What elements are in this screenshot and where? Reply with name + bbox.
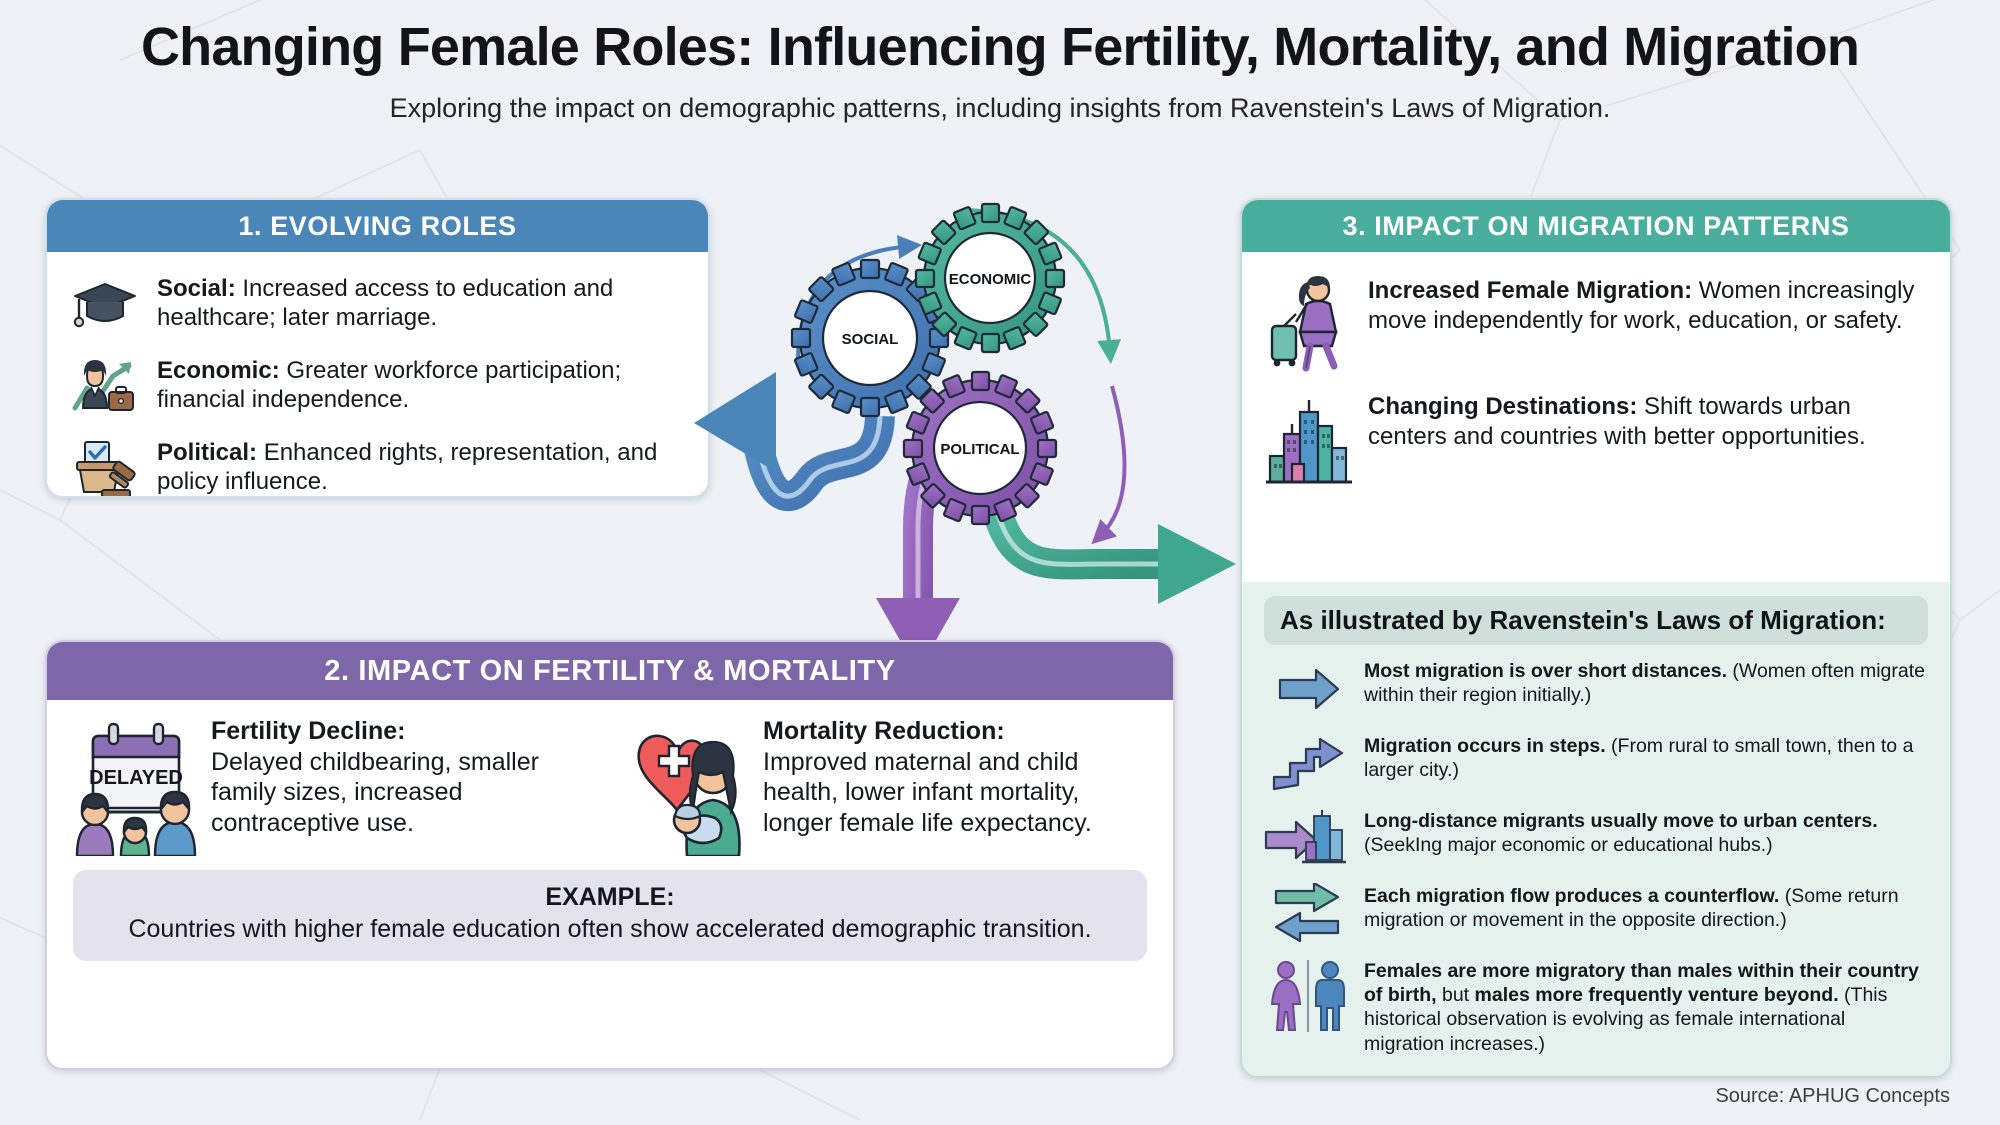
list-item: Economic: Greater workforce participatio… [69, 354, 686, 418]
list-item-text: Changing Destinations: Shift towards urb… [1368, 390, 1926, 451]
source-note: Source: APHUG Concepts [1715, 1085, 1950, 1108]
businesswoman-growth-icon [69, 354, 141, 418]
law-item: Each migration flow produces a counterfl… [1264, 883, 1928, 945]
svg-text:DELAYED: DELAYED [89, 767, 183, 789]
step-arrow-icon [1264, 733, 1352, 795]
panel-fertility-mortality-title: 2. IMPACT ON FERTILITY & MORTALITY [47, 642, 1173, 700]
header: Changing Female Roles: Influencing Ferti… [0, 18, 2000, 124]
list-item-lead: Changing Destinations: [1368, 393, 1637, 420]
graduation-cap-icon [69, 272, 141, 336]
list-item-lead: Social: [157, 275, 236, 302]
law-text: Females are more migratory than males wi… [1364, 958, 1928, 1056]
gear-economic: ECONOMIC [916, 204, 1064, 352]
column-mortality: Mortality Reduction: Improved maternal a… [625, 716, 1147, 856]
center-gear-cluster: SOCIAL [680, 180, 1260, 700]
delayed-calendar-family-icon: DELAYED [73, 716, 197, 856]
heart-mother-baby-icon [625, 716, 749, 856]
law-lead: Long-distance migrants usually move to u… [1364, 810, 1878, 832]
example-box: EXAMPLE: Countries with higher female ed… [73, 870, 1147, 961]
panel-migration-patterns: 3. IMPACT ON MIGRATION PATTERNS [1240, 198, 1952, 1078]
list-item: Changing Destinations: Shift towards urb… [1266, 390, 1926, 488]
right-arrow-icon [1264, 658, 1352, 720]
panel-evolving-roles: 1. EVOLVING ROLES Social: Increased acce… [45, 198, 710, 498]
law-text: Migration occurs in steps. (From rural t… [1364, 733, 1928, 782]
ravenstein-laws-heading: As illustrated by Ravenstein's Laws of M… [1264, 596, 1928, 645]
panel-migration-patterns-body: Increased Female Migration: Women increa… [1242, 252, 1950, 582]
list-item-text: Economic: Greater workforce participatio… [157, 354, 686, 415]
list-item-text: Social: Increased access to education an… [157, 272, 686, 333]
list-item: Political: Enhanced rights, representati… [69, 436, 686, 498]
panel-evolving-roles-title: 1. EVOLVING ROLES [47, 200, 708, 252]
list-item-lead: Economic: [157, 357, 280, 384]
list-item-text: Political: Enhanced rights, representati… [157, 436, 686, 497]
column-fertility-body: Delayed childbearing, smaller family siz… [211, 748, 539, 837]
law-text: Most migration is over short distances. … [1364, 658, 1928, 707]
list-item-lead: Political: [157, 439, 257, 466]
column-mortality-title: Mortality Reduction: [763, 716, 1147, 747]
list-item-lead: Increased Female Migration: [1368, 277, 1692, 304]
gear-social-label: SOCIAL [842, 331, 899, 348]
ravenstein-laws-section: As illustrated by Ravenstein's Laws of M… [1242, 582, 1950, 1076]
gear-political: POLITICAL [904, 372, 1056, 524]
column-mortality-body: Improved maternal and child health, lowe… [763, 748, 1092, 837]
curved-arrow-purple [1100, 386, 1125, 536]
column-mortality-text: Mortality Reduction: Improved maternal a… [763, 716, 1147, 856]
example-text: Countries with higher female education o… [93, 914, 1127, 945]
list-item: Increased Female Migration: Women increa… [1266, 274, 1926, 372]
law-item: Females are more migratory than males wi… [1264, 958, 1928, 1056]
woman-with-suitcase-icon [1266, 274, 1352, 372]
law-text: Long-distance migrants usually move to u… [1364, 808, 1928, 857]
law-item: Long-distance migrants usually move to u… [1264, 808, 1928, 870]
list-item: Social: Increased access to education an… [69, 272, 686, 336]
column-fertility-title: Fertility Decline: [211, 716, 595, 747]
page-title: Changing Female Roles: Influencing Ferti… [0, 18, 2000, 77]
panel-fertility-mortality: 2. IMPACT ON FERTILITY & MORTALITY DELAY… [45, 640, 1175, 1070]
page-subtitle: Exploring the impact on demographic patt… [0, 93, 2000, 124]
panel-evolving-roles-body: Social: Increased access to education an… [47, 252, 708, 498]
ballot-box-gavel-icon [69, 436, 141, 498]
arrow-to-city-icon [1264, 808, 1352, 870]
law-mid: but [1437, 984, 1475, 1006]
column-fertility: DELAYED [73, 716, 595, 856]
law-item: Most migration is over short distances. … [1264, 658, 1928, 720]
law-item: Migration occurs in steps. (From rural t… [1264, 733, 1928, 795]
law-lead: Most migration is over short distances. [1364, 660, 1727, 682]
law-body: (SeekIng major economic or educational h… [1364, 834, 1773, 856]
list-item-text: Increased Female Migration: Women increa… [1368, 274, 1926, 335]
example-label: EXAMPLE: [93, 883, 1127, 912]
panel-fertility-mortality-body: DELAYED [47, 700, 1173, 1070]
counterflow-arrows-icon [1264, 883, 1352, 945]
city-skyline-icon [1266, 390, 1352, 488]
panel-migration-patterns-title: 3. IMPACT ON MIGRATION PATTERNS [1242, 200, 1950, 252]
law-lead: Each migration flow produces a counterfl… [1364, 885, 1779, 907]
law-text: Each migration flow produces a counterfl… [1364, 883, 1928, 932]
law-lead: Migration occurs in steps. [1364, 735, 1606, 757]
gear-economic-label: ECONOMIC [949, 271, 1032, 288]
column-fertility-text: Fertility Decline: Delayed childbearing,… [211, 716, 595, 856]
fertility-mortality-columns: DELAYED [73, 716, 1147, 856]
female-male-figures-icon [1264, 958, 1352, 1020]
gear-political-label: POLITICAL [940, 441, 1019, 458]
law-lead-2: males more frequently venture beyond. [1475, 984, 1839, 1006]
